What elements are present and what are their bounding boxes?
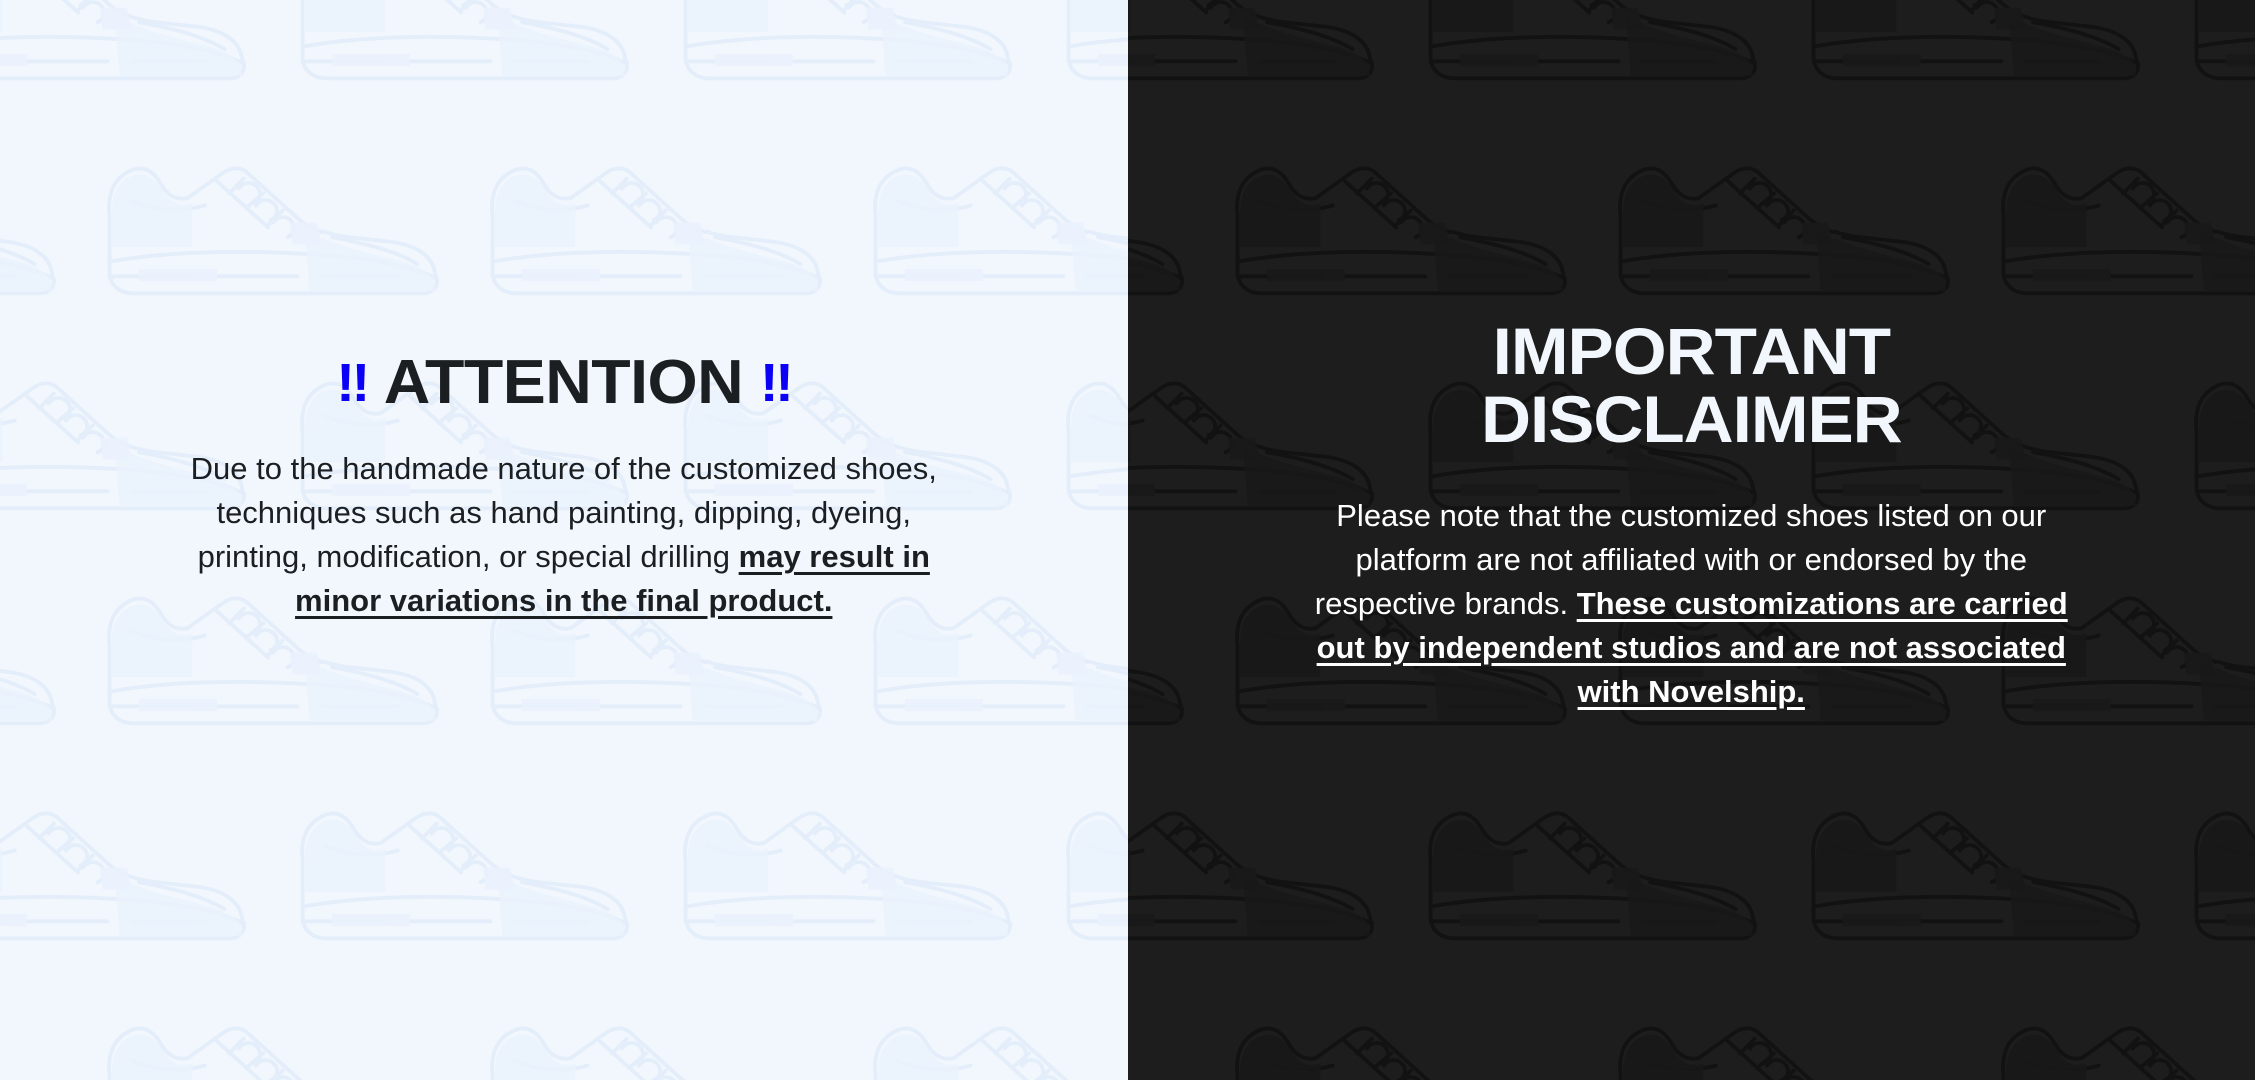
disclaimer-content: IMPORTANTDISCLAIMER Please note that the… [1128, 0, 2255, 714]
disclaimer-heading: IMPORTANTDISCLAIMER [1481, 318, 1902, 454]
attention-content: ‼ATTENTION‼ Due to the handmade nature o… [0, 0, 1128, 623]
disclaimer-heading-line2: DISCLAIMER [1481, 382, 1902, 456]
disclaimer-panel: IMPORTANTDISCLAIMER Please note that the… [1128, 0, 2255, 1080]
attention-body: Due to the handmade nature of the custom… [169, 447, 959, 623]
double-exclamation-icon-right: ‼ [760, 353, 791, 413]
attention-heading-text: ATTENTION [384, 348, 743, 417]
double-exclamation-icon-left: ‼ [337, 353, 368, 413]
attention-heading: ‼ATTENTION‼ [337, 352, 791, 414]
disclaimer-heading-line1: IMPORTANT [1493, 314, 1890, 388]
disclaimer-body: Please note that the customized shoes li… [1291, 494, 2091, 714]
attention-panel: ‼ATTENTION‼ Due to the handmade nature o… [0, 0, 1128, 1080]
disclaimer-banner: ‼ATTENTION‼ Due to the handmade nature o… [0, 0, 2255, 1080]
